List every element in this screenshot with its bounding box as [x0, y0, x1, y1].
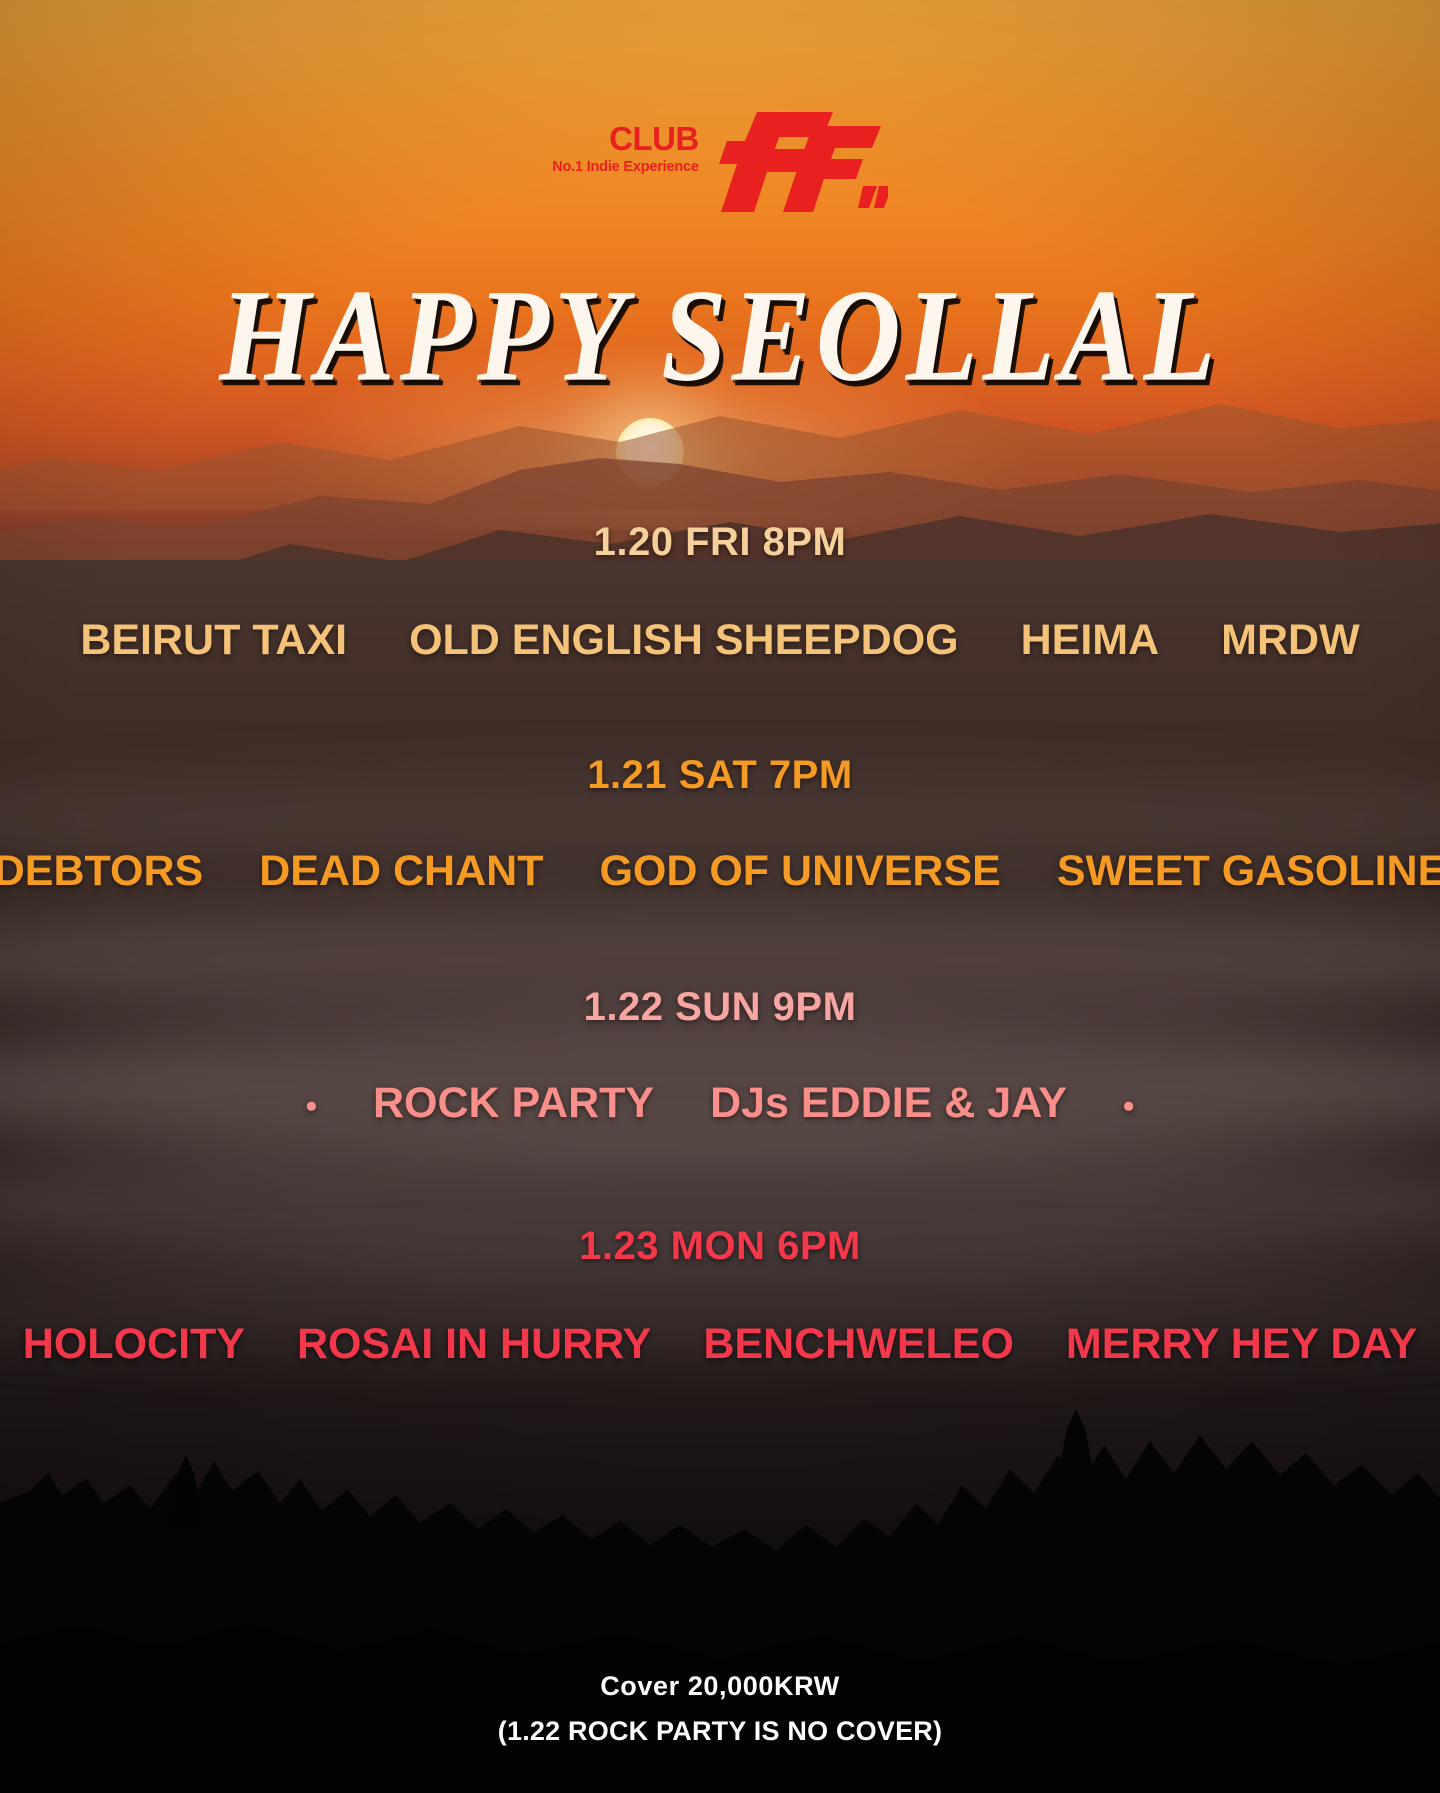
club-logo-tagline: No.1 Indie Experience	[552, 160, 699, 175]
band-name: OLD ENGLISH SHEEPDOG	[409, 616, 959, 665]
band-name: DJs EDDIE & JAY	[710, 1079, 1067, 1128]
band-name: ROCK PARTY	[373, 1079, 654, 1128]
lineup-date-day-4: 1.23 MON 6PM	[0, 1224, 1440, 1268]
ff-logo-icon	[713, 108, 888, 223]
lineup-date-day-1: 1.20 FRI 8PM	[0, 520, 1440, 564]
band-name: DEAD CHANT	[259, 847, 543, 896]
lineup-block-day-1: 1.20 FRI 8PM BEIRUT TAXI OLD ENGLISH SHE…	[0, 520, 1440, 665]
lineup-date-day-2: 1.21 SAT 7PM	[0, 753, 1440, 797]
band-name: MERRY HEY DAY	[1066, 1320, 1417, 1369]
club-logo-text: CLUB No.1 Indie Experience	[552, 108, 699, 175]
lineup-block-day-4: 1.23 MON 6PM HOLOCITY ROSAI IN HURRY BEN…	[0, 1224, 1440, 1369]
club-logo: CLUB No.1 Indie Experience	[0, 108, 1440, 223]
lineup-bands-day-4: HOLOCITY ROSAI IN HURRY BENCHWELEO MERRY…	[0, 1320, 1440, 1369]
club-logo-word: CLUB	[609, 122, 699, 155]
band-name: ROSAI IN HURRY	[297, 1320, 651, 1369]
bullet-icon: •	[306, 1090, 317, 1122]
lineup-bands-day-2: DEBTORS DEAD CHANT GOD OF UNIVERSE SWEET…	[0, 847, 1440, 896]
footer: Cover 20,000KRW (1.22 ROCK PARTY IS NO C…	[0, 1668, 1440, 1749]
lineup-block-day-3: 1.22 SUN 9PM • ROCK PARTY DJs EDDIE & JA…	[0, 985, 1440, 1128]
band-name: HEIMA	[1021, 616, 1160, 665]
lineup-bands-day-3: • ROCK PARTY DJs EDDIE & JAY •	[0, 1079, 1440, 1128]
band-name: DEBTORS	[0, 847, 203, 896]
lineup-bands-day-1: BEIRUT TAXI OLD ENGLISH SHEEPDOG HEIMA M…	[0, 616, 1440, 665]
band-name: BENCHWELEO	[703, 1320, 1014, 1369]
bullet-icon: •	[1123, 1090, 1134, 1122]
lineup-block-day-2: 1.21 SAT 7PM DEBTORS DEAD CHANT GOD OF U…	[0, 753, 1440, 896]
band-name: GOD OF UNIVERSE	[599, 847, 1000, 896]
cover-note: (1.22 ROCK PARTY IS NO COVER)	[0, 1713, 1440, 1749]
lineup-date-day-3: 1.22 SUN 9PM	[0, 985, 1440, 1029]
band-name: SWEET GASOLINE	[1057, 847, 1440, 896]
band-name: MRDW	[1221, 616, 1360, 665]
band-name: HOLOCITY	[23, 1320, 245, 1369]
band-name: BEIRUT TAXI	[80, 616, 347, 665]
page-title: HAPPY SEOLLAL	[0, 260, 1440, 412]
lineup-list: 1.20 FRI 8PM BEIRUT TAXI OLD ENGLISH SHE…	[0, 520, 1440, 1370]
cover-price: Cover 20,000KRW	[0, 1668, 1440, 1704]
event-poster: CLUB No.1 Indie Experience	[0, 0, 1440, 1793]
